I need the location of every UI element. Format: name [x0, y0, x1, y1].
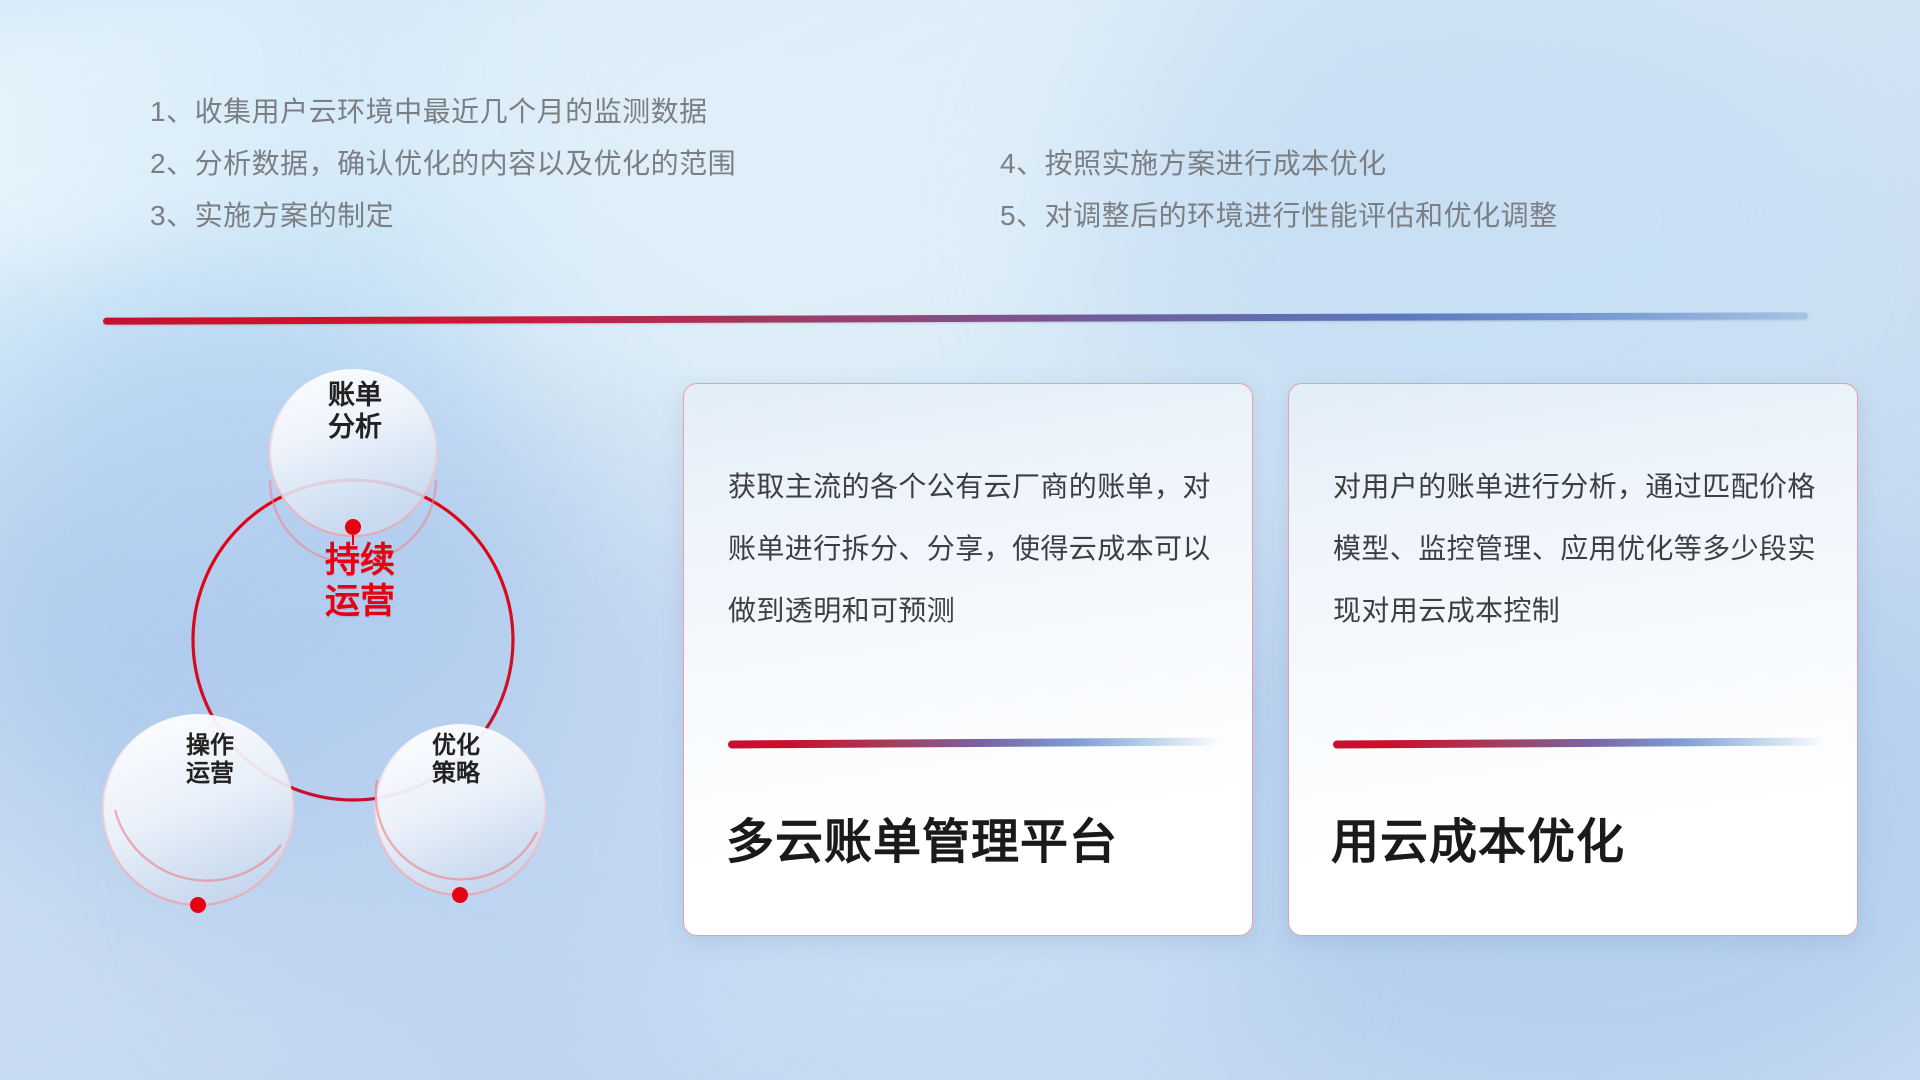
venn-circle-top — [270, 370, 436, 536]
process-step-list-left-column: 1、收集用户云环境中最近几个月的监测数据 2、分析数据，确认优化的内容以及优化的… — [150, 86, 736, 242]
venn-circle-left — [103, 715, 293, 905]
feature-card-cost-optimization[interactable]: 对用户的账单进行分析，通过匹配价格模型、监控管理、应用优化等多少段实现对用云成本… — [1288, 383, 1858, 936]
process-step-list: 1、收集用户云环境中最近几个月的监测数据 2、分析数据，确认优化的内容以及优化的… — [0, 86, 1920, 276]
venn-circle-right — [375, 725, 545, 895]
process-step-list-right-column: 4、按照实施方案进行成本优化 5、对调整后的环境进行性能评估和优化调整 — [1000, 138, 1558, 242]
process-step-item-3: 3、实施方案的制定 — [150, 190, 736, 242]
feature-card-title: 用云成本优化 — [1331, 802, 1827, 872]
feature-card-title: 多云账单管理平台 — [726, 802, 1222, 872]
process-step-item-1: 1、收集用户云环境中最近几个月的监测数据 — [150, 86, 736, 138]
venn-node-left — [190, 897, 206, 913]
venn-node-right — [452, 887, 468, 903]
feature-card-divider — [728, 737, 1220, 748]
feature-card-body: 获取主流的各个公有云厂商的账单，对账单进行拆分、分享，使得云成本可以做到透明和可… — [728, 456, 1216, 642]
process-step-item-4: 4、按照实施方案进行成本优化 — [1000, 138, 1558, 190]
venn-diagram: 账单 分析 持续 运营 操作 运营 优化 策略 — [85, 340, 605, 960]
feature-card-billing-platform[interactable]: 获取主流的各个公有云厂商的账单，对账单进行拆分、分享，使得云成本可以做到透明和可… — [683, 383, 1253, 936]
process-step-item-5: 5、对调整后的环境进行性能评估和优化调整 — [1000, 190, 1558, 242]
process-step-item-2: 2、分析数据，确认优化的内容以及优化的范围 — [150, 138, 736, 190]
feature-card-divider — [1333, 737, 1825, 748]
feature-card-body: 对用户的账单进行分析，通过匹配价格模型、监控管理、应用优化等多少段实现对用云成本… — [1333, 456, 1821, 642]
